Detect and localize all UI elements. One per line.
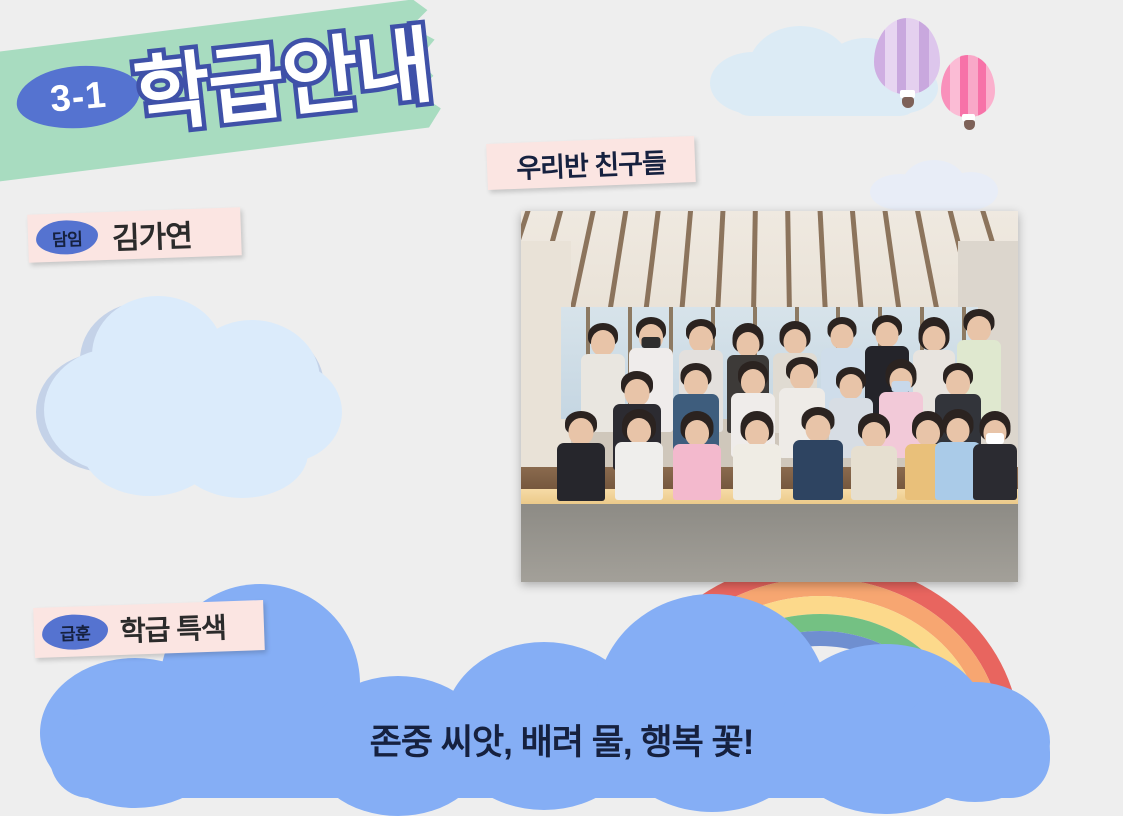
class-feature-label: 학급 특색 [119, 606, 226, 650]
photo-student [793, 407, 843, 501]
photo-caption-tape: 우리반 친구들 [486, 136, 696, 190]
student-count-cloud [26, 292, 346, 504]
photo-student [733, 411, 781, 501]
motto-badge: 급훈 [41, 613, 108, 650]
photo-student [973, 411, 1017, 501]
poster-canvas: 남 : 13명 여 : 12명 계 : 25명 [0, 0, 1123, 794]
photo-caption-text: 우리반 친구들 [516, 141, 667, 186]
title-banner: 3-1 학급안내 [0, 0, 444, 182]
class-motto-tape: 급훈 학급 특색 [33, 600, 265, 658]
teacher-name: 김가연 [111, 211, 192, 258]
class-group-photo [521, 211, 1018, 582]
photo-student [851, 413, 897, 501]
background-cloud-faint [870, 160, 1000, 210]
photo-student [557, 411, 605, 501]
hot-air-balloon-purple [874, 18, 940, 118]
photo-student [673, 411, 721, 501]
photo-floor [521, 504, 1018, 582]
class-motto-text: 존중 씨앗, 배려 물, 행복 꽃! [0, 714, 1123, 765]
hot-air-balloon-pink [941, 55, 995, 139]
homeroom-badge: 담임 [35, 219, 98, 255]
photo-student [615, 409, 663, 501]
homeroom-teacher-tape: 담임 김가연 [27, 207, 242, 262]
photo-ceiling-slats [521, 211, 1018, 322]
